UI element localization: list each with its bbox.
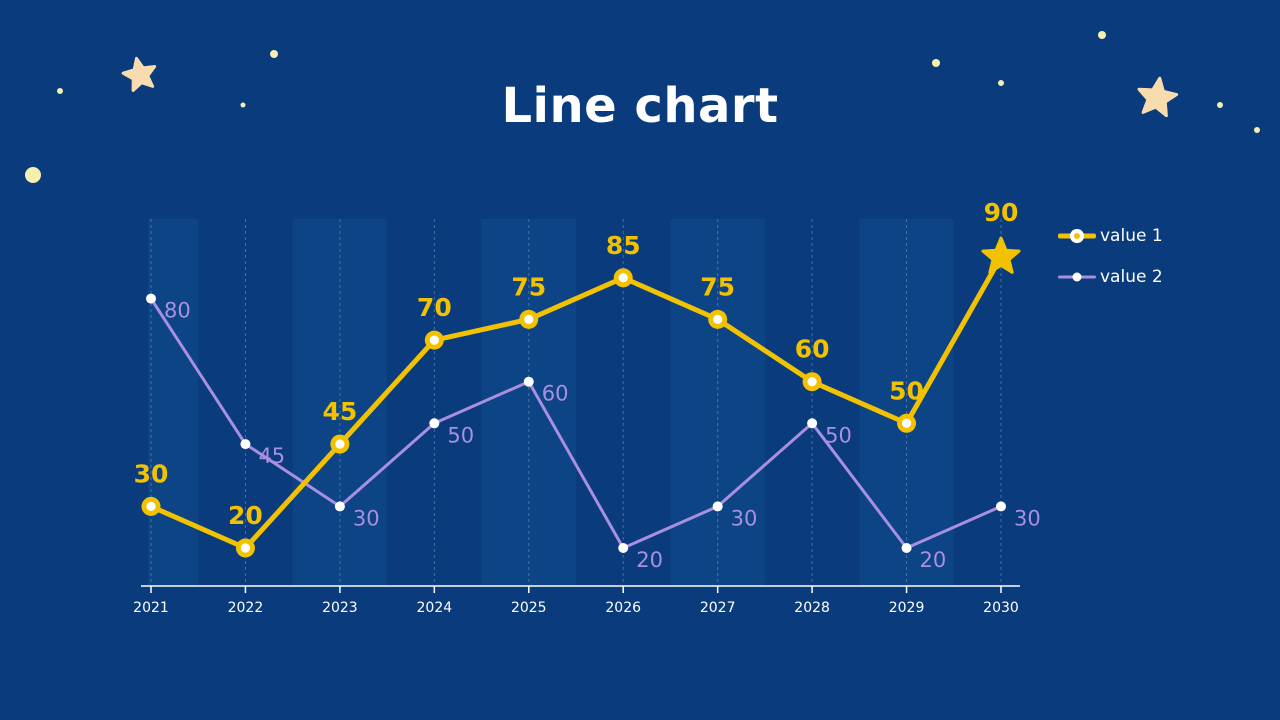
data-label-value-2: 30	[1014, 506, 1041, 530]
data-label-value-2: 50	[825, 423, 852, 447]
data-point-value-2[interactable]	[618, 543, 628, 553]
data-point-value-2[interactable]	[240, 439, 250, 449]
data-label-value-1: 30	[134, 459, 169, 488]
x-axis-tick-label: 2028	[794, 600, 830, 616]
legend-item-value-1[interactable]: value 1	[1058, 219, 1163, 253]
data-point-value-2[interactable]	[335, 501, 345, 511]
data-label-value-1: 45	[322, 397, 357, 426]
data-point-value-2[interactable]	[146, 294, 156, 304]
data-point-value-2[interactable]	[902, 543, 912, 553]
legend-item-value-2[interactable]: value 2	[1058, 260, 1163, 294]
data-point-value-1-center	[430, 336, 439, 345]
legend-marker-icon	[1070, 229, 1084, 243]
x-axis-tick-label: 2022	[228, 600, 264, 616]
legend-marker-icon	[1073, 273, 1082, 282]
x-axis-tick-label: 2027	[700, 600, 736, 616]
data-point-value-2[interactable]	[429, 418, 439, 428]
data-label-value-2: 80	[164, 299, 191, 323]
legend-label-value-2: value 2	[1100, 267, 1163, 287]
data-point-value-1-center	[808, 377, 817, 386]
data-label-value-2: 45	[258, 444, 285, 468]
data-label-value-2: 60	[542, 382, 569, 406]
line-chart: 2021202220232024202520262027202820292030…	[0, 0, 1280, 720]
x-axis-tick-label: 2023	[322, 600, 358, 616]
data-label-value-1: 75	[511, 272, 546, 301]
data-point-value-2[interactable]	[807, 418, 817, 428]
chart-legend: value 1 value 2	[1058, 219, 1163, 301]
legend-label-value-1: value 1	[1100, 226, 1163, 246]
x-axis-tick-label: 2030	[983, 600, 1019, 616]
legend-swatch-value-2	[1058, 269, 1096, 285]
x-axis-tick-label: 2026	[605, 600, 641, 616]
data-point-value-2[interactable]	[713, 501, 723, 511]
x-axis-tick-label: 2021	[133, 600, 169, 616]
x-axis-tick-label: 2024	[417, 600, 453, 616]
legend-swatch-value-1	[1058, 228, 1096, 244]
data-label-value-2: 30	[731, 506, 758, 530]
data-label-value-1: 60	[795, 335, 830, 364]
data-point-value-1-center	[619, 273, 628, 282]
data-label-value-1: 50	[889, 376, 924, 405]
data-point-value-2[interactable]	[524, 377, 534, 387]
data-label-value-1: 75	[700, 272, 735, 301]
x-axis-tick-label: 2029	[889, 600, 925, 616]
data-label-value-2: 50	[447, 423, 474, 447]
data-point-value-1-center	[335, 439, 344, 448]
data-label-value-1: 90	[984, 198, 1019, 227]
data-point-value-1-center	[713, 315, 722, 324]
data-point-value-1-center	[524, 315, 533, 324]
data-label-value-1: 85	[606, 231, 641, 260]
plot-band	[148, 219, 198, 586]
data-label-value-1: 20	[228, 501, 263, 530]
data-label-value-2: 30	[353, 506, 380, 530]
data-point-value-2[interactable]	[996, 501, 1006, 511]
data-point-value-1-center	[902, 419, 911, 428]
data-label-value-1: 70	[417, 293, 452, 322]
x-axis: 2021202220232024202520262027202820292030	[133, 586, 1020, 616]
x-axis-tick-label: 2025	[511, 600, 547, 616]
data-point-value-1-center	[146, 502, 155, 511]
data-label-value-2: 20	[920, 548, 947, 572]
data-label-value-2: 20	[636, 548, 663, 572]
data-point-value-1-center	[241, 543, 250, 552]
slide-root: Line chart 20212022202320242025202620272…	[0, 0, 1280, 720]
